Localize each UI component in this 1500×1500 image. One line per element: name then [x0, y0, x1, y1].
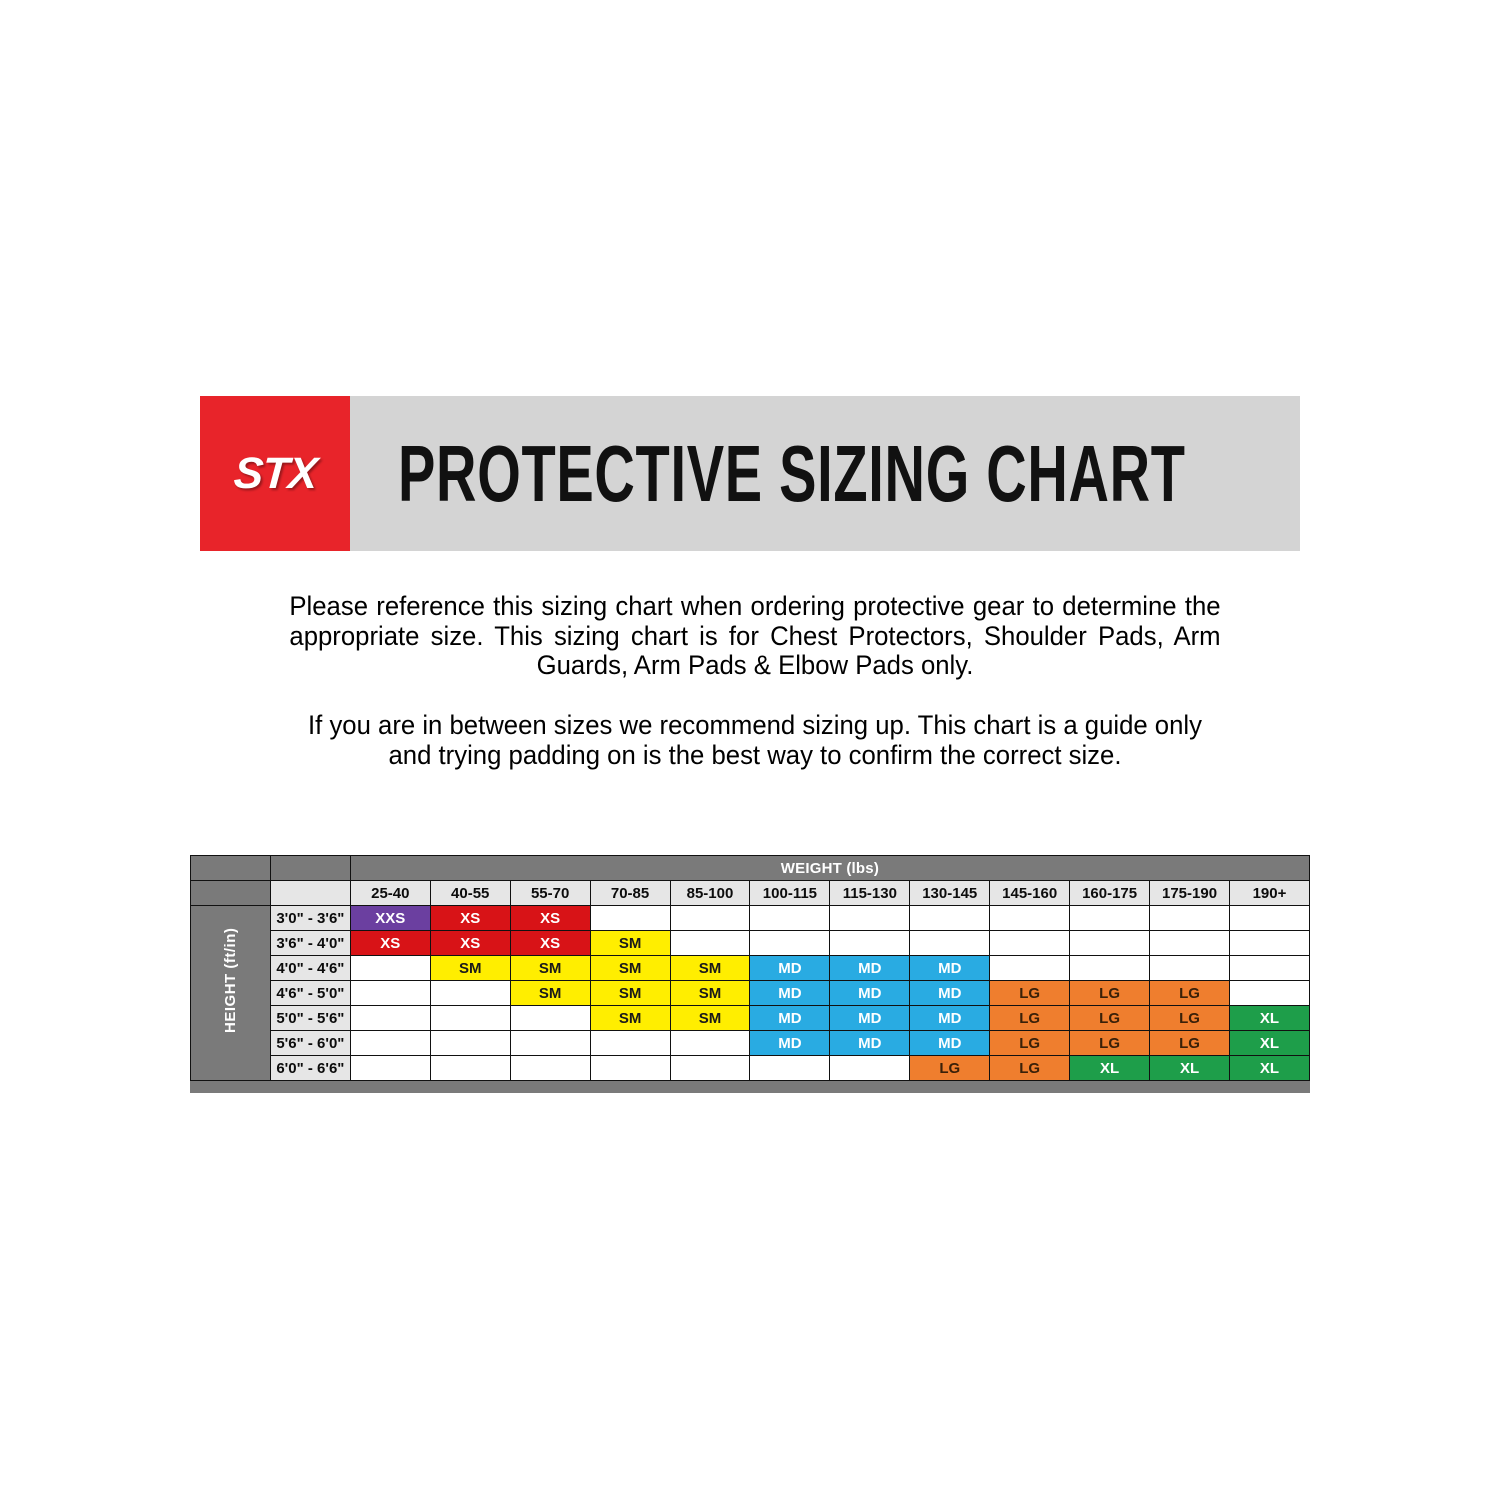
- size-cell-xl: XL: [1229, 1031, 1309, 1056]
- size-cell-empty: [830, 1056, 910, 1081]
- size-cell-lg: LG: [1070, 981, 1150, 1006]
- size-cell-lg: LG: [1150, 1006, 1230, 1031]
- size-cell-empty: [510, 1006, 590, 1031]
- size-cell-empty: [590, 1031, 670, 1056]
- size-cell-lg: LG: [990, 1056, 1070, 1081]
- height-row-label: 5'6" - 6'0": [270, 1031, 350, 1056]
- size-cell-xl: XL: [1150, 1056, 1230, 1081]
- size-cell-empty: [1150, 931, 1230, 956]
- weight-column-header: 70-85: [590, 881, 670, 906]
- table-row: 5'6" - 6'0"MDMDMDLGLGLGXL: [191, 1031, 1310, 1056]
- weight-column-header: 130-145: [910, 881, 990, 906]
- size-cell-empty: [510, 1056, 590, 1081]
- size-cell-md: MD: [910, 981, 990, 1006]
- size-cell-lg: LG: [910, 1056, 990, 1081]
- intro-paragraph-1: Please reference this sizing chart when …: [289, 592, 1220, 681]
- stx-logo: STX: [200, 396, 350, 551]
- height-axis-label-text: HEIGHT (ft/in): [222, 954, 239, 1033]
- intro-text: Please reference this sizing chart when …: [275, 592, 1235, 770]
- weight-column-header: 40-55: [430, 881, 510, 906]
- size-cell-empty: [830, 906, 910, 931]
- size-cell-empty: [350, 956, 430, 981]
- size-cell-empty: [910, 931, 990, 956]
- height-row-label: 6'0" - 6'6": [270, 1056, 350, 1081]
- weight-header-row: 25-4040-5555-7070-8585-100100-115115-130…: [191, 881, 1310, 906]
- size-cell-xs: XS: [430, 906, 510, 931]
- height-row-label: 3'0" - 3'6": [270, 906, 350, 931]
- weight-column-header: 160-175: [1070, 881, 1150, 906]
- weight-column-header: 55-70: [510, 881, 590, 906]
- size-cell-empty: [670, 1056, 750, 1081]
- size-cell-empty: [590, 906, 670, 931]
- corner-spacer: [270, 856, 350, 881]
- size-cell-xl: XL: [1229, 1006, 1309, 1031]
- table-corner-cell: [270, 881, 350, 906]
- size-cell-md: MD: [830, 1006, 910, 1031]
- size-cell-empty: [750, 931, 830, 956]
- size-cell-empty: [1229, 906, 1309, 931]
- size-cell-empty: [1070, 906, 1150, 931]
- size-cell-lg: LG: [1150, 1031, 1230, 1056]
- size-cell-empty: [1070, 956, 1150, 981]
- sizing-chart-table-container: WEIGHT (lbs) 25-4040-5555-7070-8585-1001…: [190, 855, 1310, 1093]
- weight-column-header: 85-100: [670, 881, 750, 906]
- size-cell-empty: [590, 1056, 670, 1081]
- size-cell-empty: [1229, 956, 1309, 981]
- height-row-label: 3'6" - 4'0": [270, 931, 350, 956]
- table-row: 5'0" - 5'6"SMSMMDMDMDLGLGLGXL: [191, 1006, 1310, 1031]
- size-cell-md: MD: [830, 981, 910, 1006]
- size-cell-empty: [670, 1031, 750, 1056]
- size-cell-sm: SM: [590, 956, 670, 981]
- size-cell-lg: LG: [990, 1031, 1070, 1056]
- size-cell-md: MD: [750, 1031, 830, 1056]
- size-cell-empty: [990, 906, 1070, 931]
- weight-axis-label: WEIGHT (lbs): [350, 856, 1309, 881]
- weight-title-row: WEIGHT (lbs): [191, 856, 1310, 881]
- page-title: PROTECTIVE SIZING CHART: [398, 437, 1186, 511]
- size-cell-empty: [830, 931, 910, 956]
- size-cell-lg: LG: [990, 981, 1070, 1006]
- size-cell-lg: LG: [1070, 1006, 1150, 1031]
- weight-column-header: 100-115: [750, 881, 830, 906]
- size-cell-md: MD: [750, 981, 830, 1006]
- size-cell-md: MD: [830, 956, 910, 981]
- size-cell-xs: XS: [350, 931, 430, 956]
- size-cell-empty: [1070, 931, 1150, 956]
- size-cell-empty: [990, 956, 1070, 981]
- header-banner: STX PROTECTIVE SIZING CHART: [200, 396, 1300, 551]
- size-cell-xs: XS: [510, 906, 590, 931]
- size-cell-empty: [990, 931, 1070, 956]
- table-row: 6'0" - 6'6"LGLGXLXLXL: [191, 1056, 1310, 1081]
- size-cell-md: MD: [750, 956, 830, 981]
- table-row: 3'6" - 4'0"XSXSXSSM: [191, 931, 1310, 956]
- size-cell-sm: SM: [670, 956, 750, 981]
- axis-spacer: [191, 856, 271, 881]
- table-body: HEIGHT (ft/in)3'0" - 3'6"XXSXSXS3'6" - 4…: [191, 906, 1310, 1081]
- size-cell-sm: SM: [590, 1006, 670, 1031]
- height-row-label: 5'0" - 5'6": [270, 1006, 350, 1031]
- size-cell-sm: SM: [590, 931, 670, 956]
- size-cell-sm: SM: [510, 956, 590, 981]
- size-cell-sm: SM: [510, 981, 590, 1006]
- weight-column-header: 115-130: [830, 881, 910, 906]
- size-cell-empty: [350, 1031, 430, 1056]
- size-cell-empty: [1150, 956, 1230, 981]
- size-cell-md: MD: [830, 1031, 910, 1056]
- size-cell-md: MD: [910, 1031, 990, 1056]
- size-cell-lg: LG: [990, 1006, 1070, 1031]
- size-cell-empty: [350, 1056, 430, 1081]
- banner-title-container: PROTECTIVE SIZING CHART: [350, 396, 1500, 551]
- size-cell-empty: [670, 906, 750, 931]
- table-row: HEIGHT (ft/in)3'0" - 3'6"XXSXSXS: [191, 906, 1310, 931]
- size-cell-md: MD: [750, 1006, 830, 1031]
- sizing-chart-table: WEIGHT (lbs) 25-4040-5555-7070-8585-1001…: [190, 855, 1310, 1081]
- size-cell-lg: LG: [1150, 981, 1230, 1006]
- size-cell-xs: XS: [510, 931, 590, 956]
- height-axis-label: HEIGHT (ft/in): [191, 906, 271, 1081]
- size-cell-empty: [430, 1006, 510, 1031]
- size-cell-md: MD: [910, 956, 990, 981]
- size-cell-xxs: XXS: [350, 906, 430, 931]
- size-cell-empty: [430, 981, 510, 1006]
- weight-column-header: 190+: [1229, 881, 1309, 906]
- size-cell-md: MD: [910, 1006, 990, 1031]
- size-cell-empty: [430, 1056, 510, 1081]
- size-cell-sm: SM: [670, 1006, 750, 1031]
- size-cell-sm: SM: [590, 981, 670, 1006]
- weight-column-header: 25-40: [350, 881, 430, 906]
- size-cell-xs: XS: [430, 931, 510, 956]
- size-cell-empty: [510, 1031, 590, 1056]
- height-row-label: 4'0" - 4'6": [270, 956, 350, 981]
- size-cell-xl: XL: [1229, 1056, 1309, 1081]
- size-cell-sm: SM: [670, 981, 750, 1006]
- table-row: 4'0" - 4'6"SMSMSMSMMDMDMD: [191, 956, 1310, 981]
- table-bottom-gray-strip: [190, 1081, 1310, 1093]
- size-cell-lg: LG: [1070, 1031, 1150, 1056]
- size-cell-xl: XL: [1070, 1056, 1150, 1081]
- size-cell-empty: [1229, 931, 1309, 956]
- stx-logo-text: STX: [232, 449, 318, 499]
- axis-spacer-2: [191, 881, 271, 906]
- size-cell-empty: [750, 906, 830, 931]
- size-cell-empty: [750, 1056, 830, 1081]
- size-cell-empty: [910, 906, 990, 931]
- intro-paragraph-2: If you are in between sizes we recommend…: [289, 711, 1220, 770]
- weight-column-header: 175-190: [1150, 881, 1230, 906]
- size-cell-empty: [350, 981, 430, 1006]
- size-cell-empty: [1229, 981, 1309, 1006]
- size-cell-empty: [430, 1031, 510, 1056]
- table-head: WEIGHT (lbs) 25-4040-5555-7070-8585-1001…: [191, 856, 1310, 906]
- height-row-label: 4'6" - 5'0": [270, 981, 350, 1006]
- size-cell-empty: [1150, 906, 1230, 931]
- weight-column-header: 145-160: [990, 881, 1070, 906]
- table-row: 4'6" - 5'0"SMSMSMMDMDMDLGLGLG: [191, 981, 1310, 1006]
- size-cell-empty: [350, 1006, 430, 1031]
- size-cell-sm: SM: [430, 956, 510, 981]
- size-cell-empty: [670, 931, 750, 956]
